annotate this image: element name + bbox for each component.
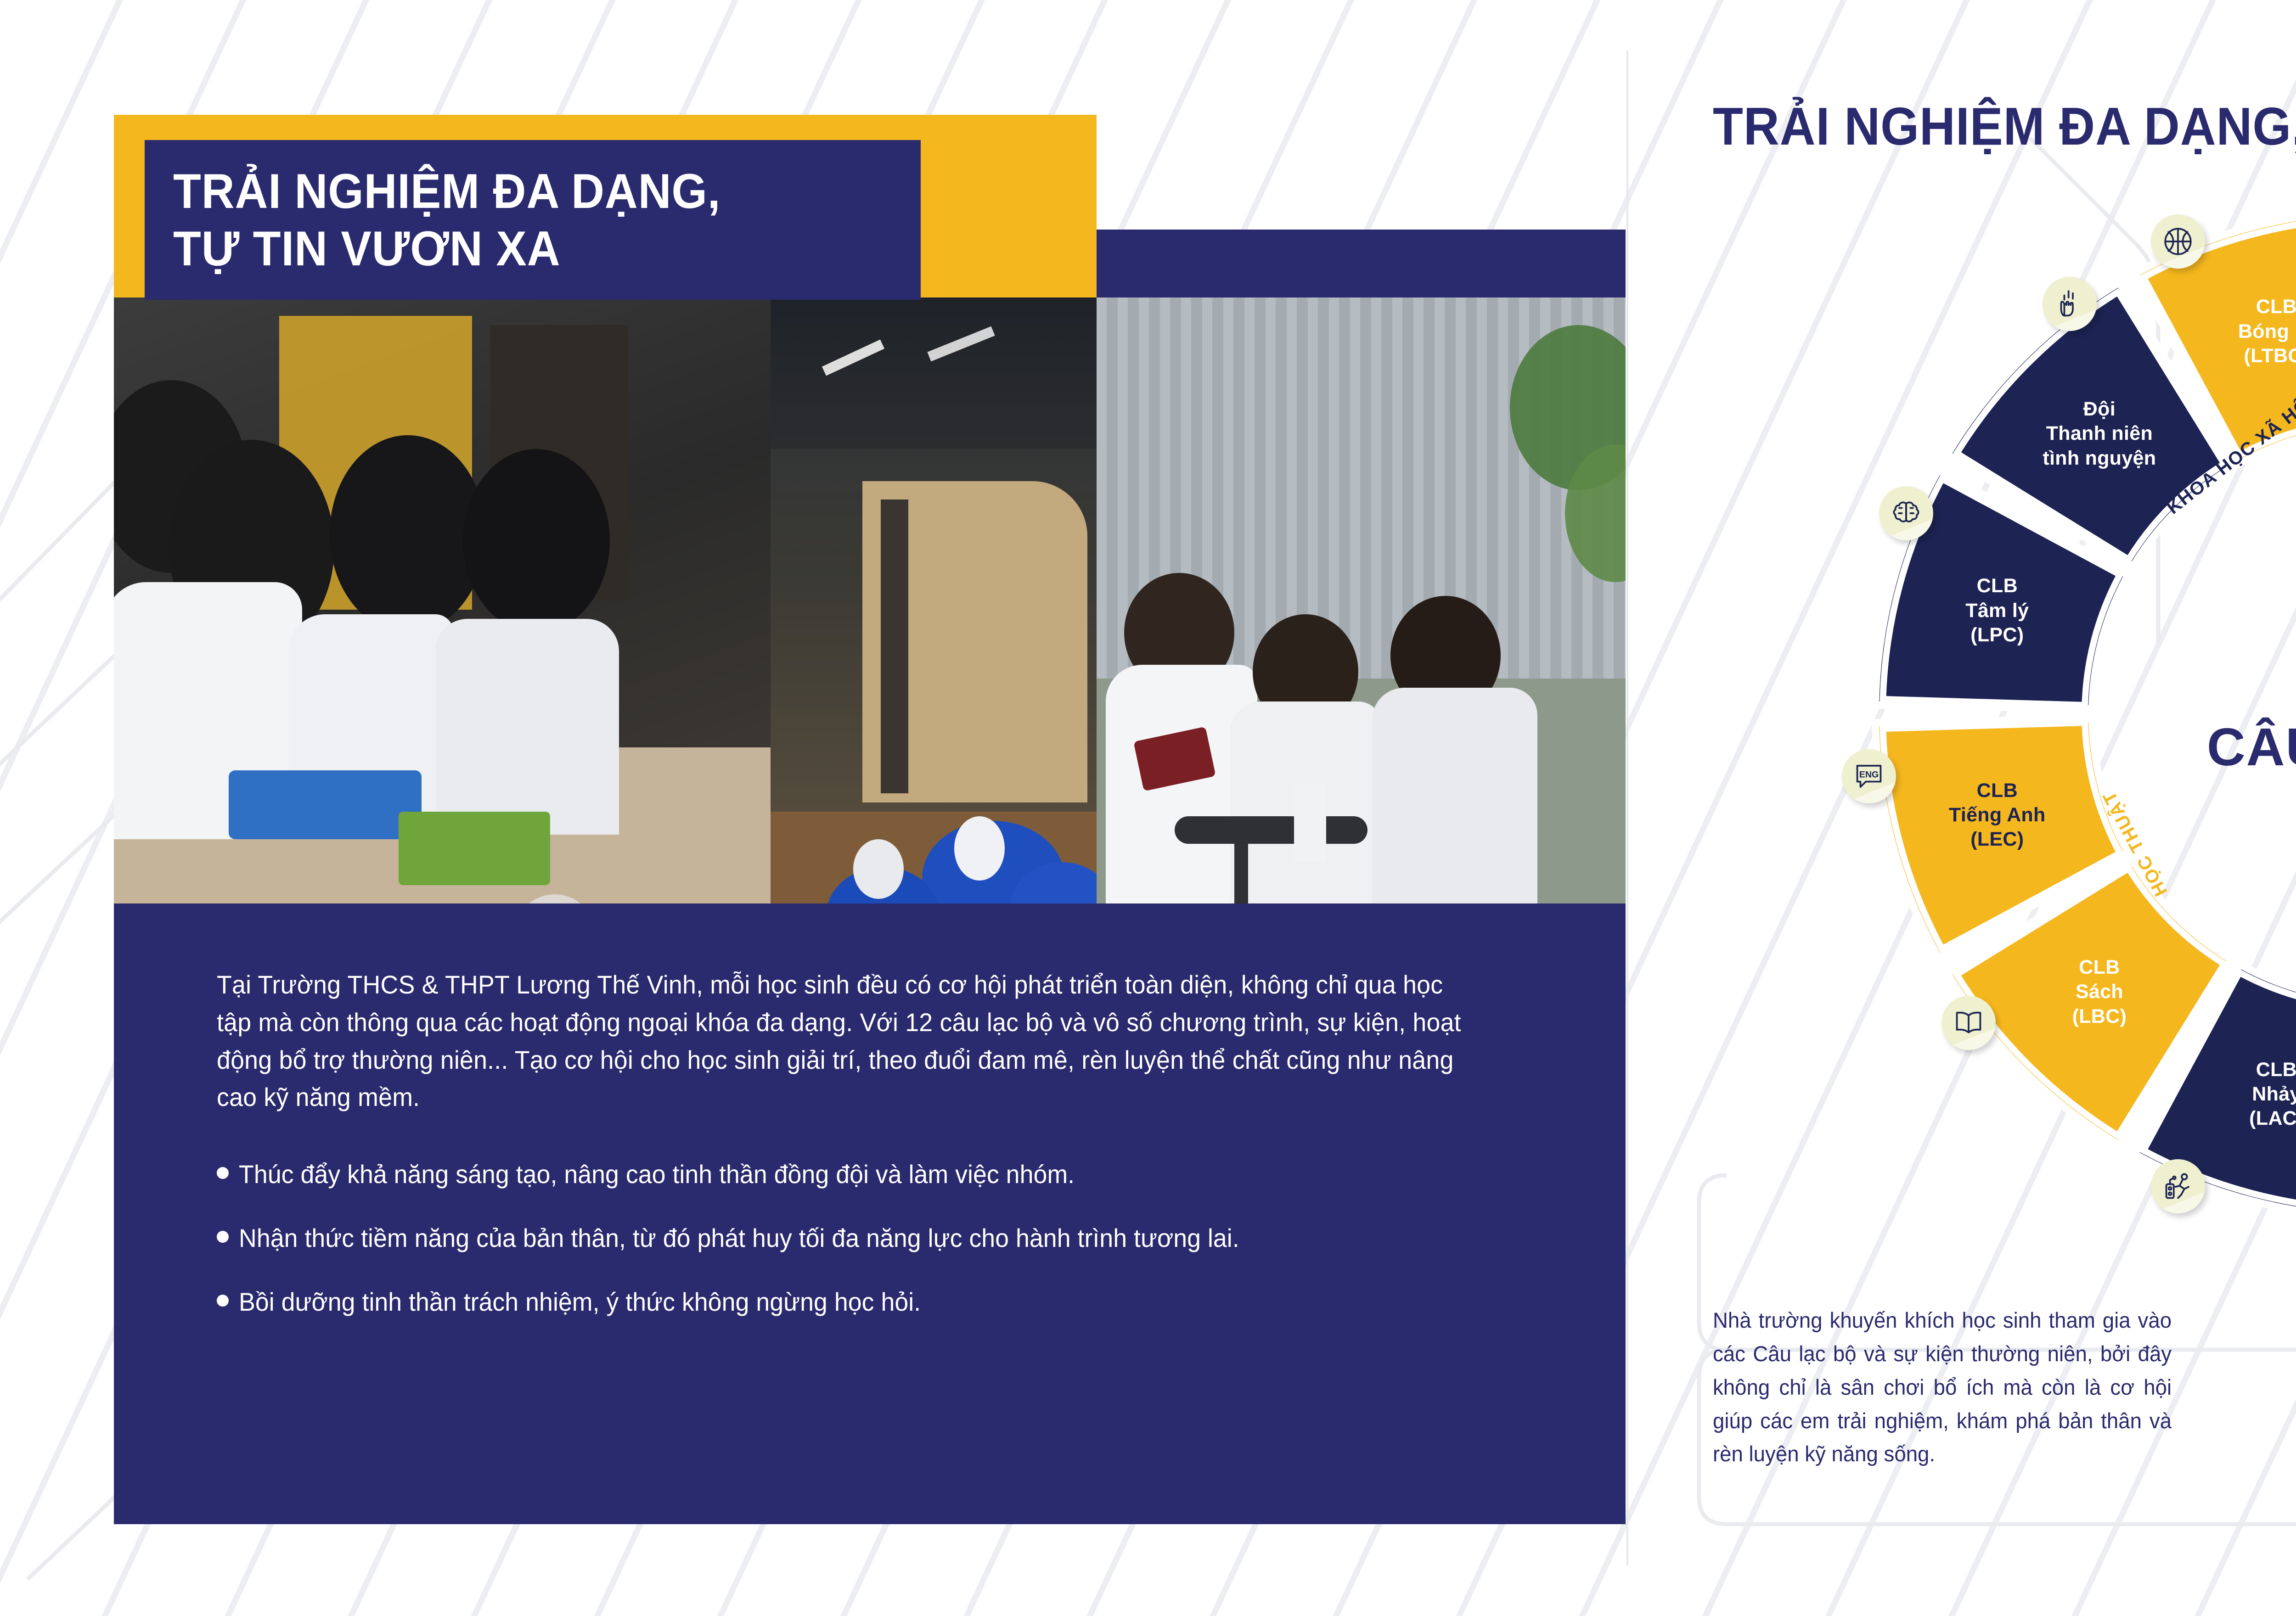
left-title-box: TRẢI NGHIỆM ĐA DẠNG, TỰ TIN VƯƠN XA [145,140,921,300]
footer-paragraph-left: Nhà trường khuyến khích học sinh tham gi… [1713,1304,2172,1471]
clubs-wheel-svg [1782,151,2296,1276]
bullet-text-1: Thúc đẩy khả năng sáng tạo, nâng cao tin… [239,1156,1075,1193]
center-number: 12 [1782,578,2296,701]
panel-divider [1626,50,1628,1565]
bullet-text-3: Bồi dưỡng tinh thần trách nhiệm, ý thức … [239,1283,921,1320]
clubs-wheel: 12 CÂU LẠC BỘ CLB Bóng rổ (LTBC)CLB Bóng… [1782,151,2296,1276]
right-page-title: TRẢI NGHIỆM ĐA DẠNG, TỰ TIN VƯƠN XA [1713,95,2296,157]
left-title-line-2: TỰ TIN VƯƠN XA [173,220,868,277]
dancer-icon [2151,1159,2205,1213]
bullet-dot-icon [217,1295,229,1307]
bullet-text-2: Nhận thức tiềm năng của bản thân, từ đó … [239,1219,1239,1257]
left-title-line-1: TRẢI NGHIỆM ĐA DẠNG, [173,163,868,220]
left-navy-accent [1097,230,1626,305]
basketball-icon [2151,214,2205,269]
bullet-dot-icon [217,1231,229,1243]
open-book-icon [1941,996,1996,1050]
bullet-dot-icon [217,1167,229,1179]
left-text-block: Tại Trường THCS & THPT Lương Thế Vinh, m… [114,903,1626,1524]
bullet-item-3: Bồi dưỡng tinh thần trách nhiệm, ý thức … [217,1283,1534,1320]
right-panel: TRẢI NGHIỆM ĐA DẠNG, TỰ TIN VƯƠN XA 12 C… [1653,0,2296,1616]
svg-text:ENG: ENG [1859,770,1879,780]
brain-icon [1879,486,1933,540]
bullet-item-1: Thúc đẩy khả năng sáng tạo, nâng cao tin… [217,1156,1534,1193]
bullet-item-2: Nhận thức tiềm năng của bản thân, từ đó … [217,1219,1534,1257]
eng-speech-icon: ENG [1842,749,1896,803]
lead-paragraph: Tại Trường THCS & THPT Lương Thế Vinh, m… [217,966,1481,1116]
helping-hands-icon [2043,277,2097,331]
